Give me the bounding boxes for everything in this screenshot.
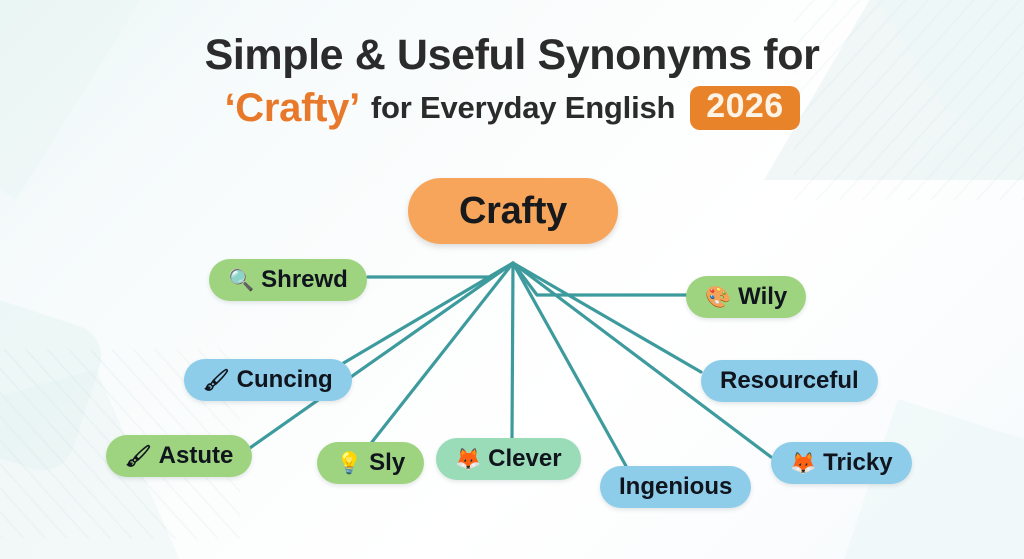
- mindmap-node-label: Wily: [738, 285, 787, 309]
- paintbrush-icon: 🖌: [125, 446, 152, 467]
- fox-icon: 🦊: [790, 453, 816, 474]
- connector-clever: [512, 263, 513, 438]
- mindmap-node-label: Cuncing: [237, 368, 333, 392]
- light-bulb-icon: 💡: [336, 453, 362, 474]
- connector-resourceful: [513, 263, 701, 372]
- mindmap-node-label: Resourceful: [720, 369, 859, 393]
- mindmap-node-label: Shrewd: [261, 268, 348, 292]
- mindmap-root-node[interactable]: Crafty: [408, 178, 618, 244]
- mindmap-node-ingenious[interactable]: Ingenious: [600, 466, 751, 508]
- mindmap-node-astute[interactable]: 🖌 Astute: [106, 435, 252, 477]
- mindmap-node-label: Tricky: [823, 451, 892, 475]
- mindmap-node-shrewd[interactable]: 🔍 Shrewd: [209, 259, 367, 301]
- mindmap-node-tricky[interactable]: 🦊 Tricky: [771, 442, 912, 484]
- mindmap-root-label: Crafty: [459, 192, 567, 230]
- fox-icon: 🦊: [455, 449, 481, 470]
- mindmap-node-label: Ingenious: [619, 475, 732, 499]
- mindmap-node-label: Astute: [159, 444, 234, 468]
- mindmap-node-cuncing[interactable]: 🖌 Cuncing: [184, 359, 352, 401]
- mindmap-node-resourceful[interactable]: Resourceful: [701, 360, 878, 402]
- mindmap-node-label: Sly: [369, 451, 405, 475]
- mindmap: Crafty 🔍 Shrewd 🎨 Wily 🖌 Cuncing Resourc…: [0, 0, 1024, 559]
- magnifying-glass-icon: 🔍: [228, 270, 254, 291]
- paintbrush-icon: 🖌: [203, 370, 230, 391]
- mindmap-node-sly[interactable]: 💡 Sly: [317, 442, 424, 484]
- mindmap-node-label: Clever: [488, 447, 561, 471]
- connector-sly: [372, 263, 513, 442]
- mindmap-node-clever[interactable]: 🦊 Clever: [436, 438, 581, 480]
- artist-palette-icon: 🎨: [705, 287, 731, 308]
- mindmap-node-wily[interactable]: 🎨 Wily: [686, 276, 806, 318]
